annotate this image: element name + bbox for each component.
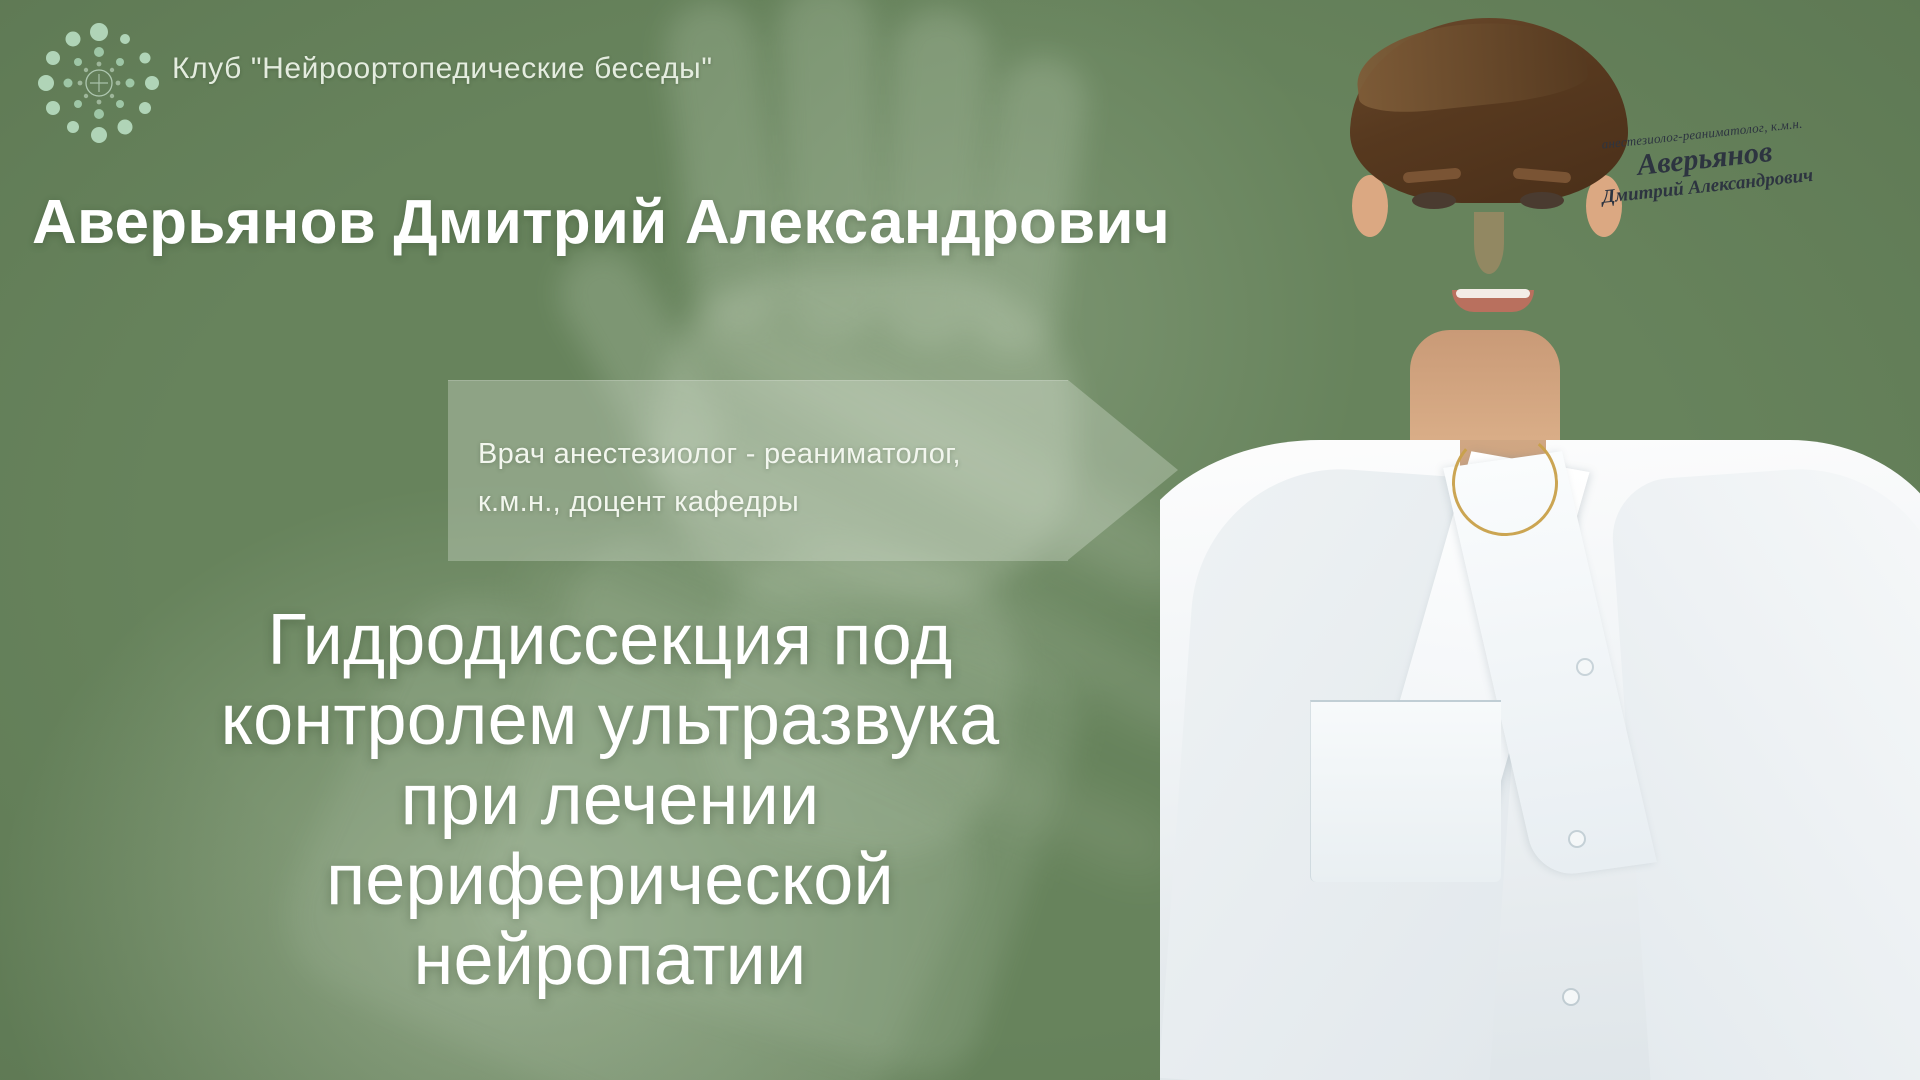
presentation-headline: Гидродиссекция под контролем ультразвука… bbox=[60, 600, 1160, 1000]
speaker-role-text: Врач анестезиолог - реаниматолог, к.м.н.… bbox=[478, 430, 1098, 526]
headline-line: нейропатии bbox=[60, 920, 1160, 1000]
role-line: к.м.н., доцент кафедры bbox=[478, 478, 1098, 526]
headline-line: при лечении bbox=[60, 760, 1160, 840]
headline-line: контролем ультразвука bbox=[60, 680, 1160, 760]
club-title: Клуб "Нейроортопедические беседы" bbox=[172, 52, 713, 86]
speaker-full-name: Аверьянов Дмитрий Александрович bbox=[32, 187, 1170, 258]
headline-line: Гидродиссекция под bbox=[60, 600, 1160, 680]
mandala-dots-logo-icon bbox=[24, 8, 174, 158]
headline-line: периферической bbox=[60, 840, 1160, 920]
role-line: Врач анестезиолог - реаниматолог, bbox=[478, 430, 1098, 478]
presentation-slide: Клуб "Нейроортопедические беседы" Аверья… bbox=[0, 0, 1920, 1080]
speaker-portrait-photo: анестезиолог-реаниматолог, к.м.н. Аверья… bbox=[1160, 0, 1920, 1080]
